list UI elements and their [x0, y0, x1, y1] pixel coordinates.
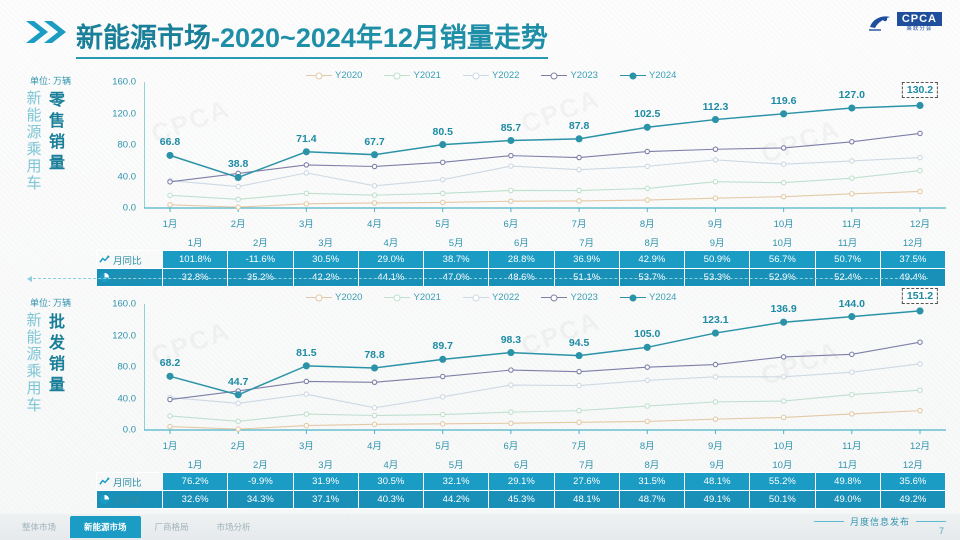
data-point[interactable] [712, 117, 718, 123]
data-point[interactable] [304, 423, 308, 427]
data-point[interactable] [235, 392, 241, 398]
data-point[interactable] [304, 191, 308, 195]
table-column-header: 11月 [815, 234, 880, 251]
data-point[interactable] [781, 162, 785, 166]
slide-footer: 整体市场新能源市场厂商格局市场分析 月度信息发布 7 [0, 514, 960, 540]
data-label: 102.5 [634, 108, 660, 120]
data-point[interactable] [508, 138, 514, 144]
table-cell: 31.9% [293, 473, 358, 491]
x-axis-tick-label: 3月 [299, 438, 314, 452]
side-label-category: 新能源乘用车 [24, 312, 44, 414]
data-point[interactable] [918, 131, 922, 135]
table-row-header: 渗透率 [97, 491, 163, 509]
data-point[interactable] [372, 164, 376, 168]
table-column-header: 2月 [228, 456, 293, 473]
series-line-y2024 [170, 105, 920, 177]
data-point[interactable] [781, 319, 787, 325]
data-point[interactable] [168, 397, 172, 401]
data-point[interactable] [781, 194, 785, 198]
table-cell: 76.2% [163, 473, 228, 491]
data-label: 66.8 [160, 136, 180, 148]
line-chart-icon [99, 476, 110, 487]
table-cell: 40.3% [358, 491, 423, 509]
data-point[interactable] [713, 375, 717, 379]
data-point[interactable] [236, 427, 240, 431]
data-label: 71.4 [296, 133, 316, 145]
data-point[interactable] [645, 186, 649, 190]
footer-tab-active[interactable]: 新能源市场 [70, 516, 141, 538]
table-cell: 56.7% [750, 251, 815, 269]
table-cell: 29.1% [489, 473, 554, 491]
page-number: 7 [939, 526, 944, 536]
footer-tab[interactable]: 市场分析 [203, 516, 265, 538]
data-point[interactable] [781, 355, 785, 359]
data-point[interactable] [372, 422, 376, 426]
data-point[interactable] [509, 199, 513, 203]
data-point[interactable] [372, 152, 378, 158]
data-point[interactable] [303, 149, 309, 155]
table-column-header: 1月 [163, 234, 228, 251]
data-point[interactable] [304, 412, 308, 416]
table-cell: 37.5% [880, 251, 945, 269]
data-point[interactable] [576, 353, 582, 359]
x-axis-tick-label: 9月 [708, 438, 723, 452]
data-point[interactable] [236, 419, 240, 423]
table-cell: 28.8% [489, 251, 554, 269]
table-header-row: 1月2月3月4月5月6月7月8月9月10月11月12月 [97, 234, 946, 251]
data-point[interactable] [168, 414, 172, 418]
logo-text: CPCA [897, 12, 942, 26]
data-point[interactable] [644, 124, 650, 130]
series-line-y2023 [170, 342, 920, 399]
data-point[interactable] [645, 164, 649, 168]
data-point[interactable] [441, 395, 445, 399]
data-label: 144.0 [839, 298, 865, 310]
data-point[interactable] [918, 155, 922, 159]
table-cell: 35.6% [880, 473, 945, 491]
x-axis-tick-label: 8月 [640, 438, 655, 452]
metrics-table: 1月2月3月4月5月6月7月8月9月10月11月12月月同比76.2%-9.9%… [96, 456, 946, 509]
data-point[interactable] [303, 363, 309, 369]
table-column-header: 10月 [750, 456, 815, 473]
data-point[interactable] [236, 401, 240, 405]
series-line-y2023 [170, 133, 920, 181]
table-column-header: 9月 [685, 456, 750, 473]
data-point[interactable] [918, 340, 922, 344]
data-label: 87.8 [569, 120, 589, 132]
data-point[interactable] [441, 422, 445, 426]
table-row-header: 月同比 [97, 251, 163, 269]
data-point[interactable] [713, 158, 717, 162]
data-point[interactable] [850, 159, 854, 163]
table-cell: 45.3% [489, 491, 554, 509]
data-point[interactable] [781, 415, 785, 419]
footer-tab-bar[interactable]: 整体市场新能源市场厂商格局市场分析 [8, 516, 265, 538]
table-row: 月同比76.2%-9.9%31.9%30.5%32.1%29.1%27.6%31… [97, 473, 946, 491]
data-label: 112.3 [703, 101, 729, 113]
unit-label: 单位: 万辆 [30, 74, 71, 87]
table-column-header: 6月 [489, 234, 554, 251]
y-axis-tick: 160.0 [112, 77, 136, 88]
table-cell: 32.6% [163, 491, 228, 509]
data-point[interactable] [441, 177, 445, 181]
data-point[interactable] [304, 392, 308, 396]
panel-side-labels: 新能源乘用车批发销量 [24, 312, 67, 414]
y-axis-tick: 0.0 [123, 425, 136, 436]
data-label: 44.7 [228, 376, 248, 388]
table-column-header: 5月 [424, 456, 489, 473]
data-point[interactable] [917, 308, 923, 314]
data-point[interactable] [645, 378, 649, 382]
data-point[interactable] [440, 142, 446, 148]
data-point[interactable] [304, 163, 308, 167]
table-cell: -9.9% [228, 473, 293, 491]
y-axis-tick: 40.0 [118, 171, 137, 182]
plot-canvas: 66.838.871.467.780.585.787.8102.5112.311… [144, 72, 946, 214]
data-point[interactable] [577, 168, 581, 172]
data-point[interactable] [372, 193, 376, 197]
chart-panel-2: CPCACPCACPCA单位: 万辆新能源乘用车批发销量Y2020Y2021Y2… [0, 288, 960, 510]
line-chart-svg [144, 72, 946, 214]
table-column-header: 12月 [880, 456, 945, 473]
data-point[interactable] [577, 408, 581, 412]
table-header-row: 1月2月3月4月5月6月7月8月9月10月11月12月 [97, 456, 946, 473]
x-axis-tick-label: 6月 [504, 438, 519, 452]
page-title: 新能源市场-2020~2024年12月销量走势 [76, 16, 548, 59]
footer-tab[interactable]: 整体市场 [8, 516, 70, 538]
unit-label: 单位: 万辆 [30, 296, 71, 309]
slide-header: 新能源市场-2020~2024年12月销量走势 CPCA 乘联分会 [0, 0, 960, 62]
line-chart-svg [144, 294, 946, 436]
data-point[interactable] [577, 188, 581, 192]
table-cell: 48.1% [685, 473, 750, 491]
table-corner-cell [97, 234, 163, 251]
x-axis-tick-label: 10月 [774, 438, 794, 452]
page-title-main: 新能源市场 [76, 23, 211, 53]
data-point[interactable] [781, 399, 785, 403]
divider-left [814, 521, 844, 522]
x-axis-tick-label: 11月 [842, 438, 861, 452]
data-label: 89.7 [433, 340, 453, 352]
table-cell: 37.1% [293, 491, 358, 509]
table-row-label: 月同比 [113, 475, 142, 489]
data-point[interactable] [372, 413, 376, 417]
data-label: 68.2 [160, 357, 180, 369]
y-axis-tick: 0.0 [123, 203, 136, 214]
series-line-y2021 [170, 171, 920, 200]
data-point[interactable] [849, 105, 855, 111]
table-row-label: 渗透率 [113, 493, 142, 507]
x-axis-tick-label: 12月 [910, 438, 930, 452]
data-point[interactable] [236, 205, 240, 209]
x-axis-tick-label: 9月 [708, 216, 723, 230]
data-point[interactable] [441, 191, 445, 195]
data-point[interactable] [713, 400, 717, 404]
data-point[interactable] [372, 380, 376, 384]
data-point[interactable] [713, 196, 717, 200]
series-line-y2020 [170, 191, 920, 207]
data-point[interactable] [440, 356, 446, 362]
data-label: 67.7 [364, 136, 384, 148]
x-axis-tick-label: 5月 [435, 438, 450, 452]
x-axis-tick-label: 7月 [572, 216, 587, 230]
page-title-rest: -2020~2024年12月销量走势 [211, 23, 548, 53]
table-column-header: 1月 [163, 456, 228, 473]
data-point[interactable] [781, 181, 785, 185]
data-point[interactable] [168, 424, 172, 428]
data-point[interactable] [577, 199, 581, 203]
data-label: 123.1 [702, 314, 728, 326]
data-point[interactable] [236, 197, 240, 201]
data-point[interactable] [918, 388, 922, 392]
table-column-header: 11月 [815, 456, 880, 473]
data-point[interactable] [509, 383, 513, 387]
data-point[interactable] [509, 164, 513, 168]
data-label: 81.5 [296, 347, 316, 359]
cpca-emblem-icon [867, 13, 893, 33]
x-axis-tick-label: 3月 [299, 216, 314, 230]
data-point[interactable] [509, 410, 513, 414]
table-column-header: 5月 [424, 234, 489, 251]
data-point[interactable] [781, 111, 787, 117]
chart-area: Y2020Y2021Y2022Y2023Y20240.040.080.0120.… [96, 294, 946, 452]
data-point[interactable] [372, 184, 376, 188]
table-column-header: 12月 [880, 234, 945, 251]
table-cell: 49.1% [685, 491, 750, 509]
table-column-header: 8月 [619, 234, 684, 251]
series-line-y2024 [170, 311, 920, 395]
pie-chart-icon [99, 494, 110, 505]
side-label-metric: 批发销量 [47, 312, 67, 414]
x-axis: 1月2月3月4月5月6月7月8月9月10月11月12月 [144, 436, 946, 452]
data-label: 94.5 [569, 337, 589, 349]
x-axis-tick-label: 12月 [910, 216, 930, 230]
y-axis-tick: 120.0 [112, 330, 136, 341]
data-point[interactable] [850, 412, 854, 416]
data-point[interactable] [645, 419, 649, 423]
y-axis-tick: 80.0 [118, 362, 137, 373]
table-cell: 50.7% [815, 251, 880, 269]
data-point[interactable] [441, 160, 445, 164]
line-chart-icon [99, 254, 110, 265]
data-point[interactable] [713, 179, 717, 183]
data-point[interactable] [850, 176, 854, 180]
data-point[interactable] [167, 373, 173, 379]
cpca-logo: CPCA 乘联分会 [867, 12, 942, 33]
data-point[interactable] [850, 352, 854, 356]
data-point[interactable] [441, 200, 445, 204]
data-point[interactable] [918, 168, 922, 172]
y-axis-tick: 120.0 [112, 108, 136, 119]
data-point[interactable] [372, 201, 376, 205]
divider-right [916, 521, 946, 522]
x-axis-tick-label: 1月 [163, 216, 178, 230]
data-point[interactable] [781, 375, 785, 379]
table-cell: 49.2% [880, 491, 945, 509]
table-cell: 49.0% [815, 491, 880, 509]
table-cell: 50.9% [685, 251, 750, 269]
data-label: 98.3 [501, 334, 521, 346]
x-axis-tick-label: 8月 [640, 216, 655, 230]
data-point[interactable] [235, 174, 241, 180]
footer-brand: 月度信息发布 [814, 515, 946, 528]
data-label: 130.2 [902, 82, 938, 98]
table-row: 月同比101.8%-11.6%30.5%29.0%38.7%28.8%36.9%… [97, 251, 946, 269]
y-axis: 0.040.080.0120.0160.0 [96, 72, 142, 214]
table-corner-cell [97, 456, 163, 473]
table-column-header: 4月 [358, 456, 423, 473]
table-row-header: 月同比 [97, 473, 163, 491]
table-column-header: 6月 [489, 456, 554, 473]
table-cell: 34.3% [228, 491, 293, 509]
table-row-label: 月同比 [113, 253, 142, 267]
table-cell: 55.2% [750, 473, 815, 491]
data-point[interactable] [372, 365, 378, 371]
table-cell: 48.1% [554, 491, 619, 509]
panel-side-labels: 新能源乘用车零售销量 [24, 90, 67, 192]
data-point[interactable] [918, 189, 922, 193]
data-point[interactable] [850, 370, 854, 374]
x-axis-tick-label: 6月 [504, 216, 519, 230]
data-point[interactable] [236, 184, 240, 188]
table-cell: 44.2% [424, 491, 489, 509]
logo-subtext: 乘联分会 [897, 26, 942, 33]
data-point[interactable] [167, 152, 173, 158]
table-cell: 38.7% [424, 251, 489, 269]
x-axis-tick-label: 11月 [842, 216, 861, 230]
data-point[interactable] [713, 147, 717, 151]
data-point[interactable] [850, 140, 854, 144]
table-column-header: 10月 [750, 234, 815, 251]
table-cell: 50.1% [750, 491, 815, 509]
x-axis-tick-label: 5月 [435, 216, 450, 230]
data-point[interactable] [850, 192, 854, 196]
plot-canvas: 68.244.781.578.889.798.394.5105.0123.113… [144, 294, 946, 436]
table-cell: 36.9% [554, 251, 619, 269]
x-axis-tick-label: 1月 [163, 438, 178, 452]
table-cell: 30.5% [358, 473, 423, 491]
table-column-header: 4月 [358, 234, 423, 251]
table-column-header: 3月 [293, 234, 358, 251]
table-cell: 42.9% [619, 251, 684, 269]
y-axis-tick: 40.0 [118, 393, 137, 404]
x-axis-tick-label: 2月 [231, 216, 246, 230]
footer-brand-text: 月度信息发布 [850, 515, 910, 528]
section-divider-arrow [28, 278, 928, 280]
table-column-header: 7月 [554, 234, 619, 251]
data-point[interactable] [713, 417, 717, 421]
data-point[interactable] [509, 368, 513, 372]
data-point[interactable] [508, 350, 514, 356]
y-axis-tick: 80.0 [118, 140, 137, 151]
chart-panel-1: CPCACPCACPCA单位: 万辆新能源乘用车零售销量Y2020Y2021Y2… [0, 66, 960, 288]
data-label: 151.2 [902, 288, 938, 304]
table-column-header: 8月 [619, 456, 684, 473]
table-column-header: 9月 [685, 234, 750, 251]
data-point[interactable] [917, 102, 923, 108]
table-cell: 48.7% [619, 491, 684, 509]
table-row: 渗透率32.6%34.3%37.1%40.3%44.2%45.3%48.1%48… [97, 491, 946, 509]
data-point[interactable] [168, 203, 172, 207]
data-point[interactable] [509, 153, 513, 157]
data-point[interactable] [918, 408, 922, 412]
data-point[interactable] [645, 198, 649, 202]
data-point[interactable] [304, 379, 308, 383]
table-cell: 31.5% [619, 473, 684, 491]
data-label: 85.7 [501, 122, 521, 134]
side-label-metric: 零售销量 [47, 90, 67, 192]
data-point[interactable] [168, 193, 172, 197]
data-label: 127.0 [839, 89, 865, 101]
series-line-y2020 [170, 411, 920, 430]
data-point[interactable] [168, 180, 172, 184]
data-point[interactable] [304, 202, 308, 206]
x-axis-tick-label: 4月 [367, 438, 382, 452]
data-point[interactable] [645, 149, 649, 153]
data-label: 119.6 [771, 95, 797, 107]
data-point[interactable] [850, 392, 854, 396]
table-cell: 29.0% [358, 251, 423, 269]
table-cell: 30.5% [293, 251, 358, 269]
data-point[interactable] [918, 362, 922, 366]
slide-page: 新能源市场-2020~2024年12月销量走势 CPCA 乘联分会 CPCACP… [0, 0, 960, 540]
chart-area: Y2020Y2021Y2022Y2023Y20240.040.080.0120.… [96, 72, 946, 230]
y-axis-tick: 160.0 [112, 299, 136, 310]
y-axis: 0.040.080.0120.0160.0 [96, 294, 142, 436]
data-point[interactable] [712, 330, 718, 336]
data-label: 38.8 [228, 158, 248, 170]
data-point[interactable] [644, 344, 650, 350]
data-point[interactable] [849, 314, 855, 320]
data-point[interactable] [509, 421, 513, 425]
x-axis: 1月2月3月4月5月6月7月8月9月10月11月12月 [144, 214, 946, 230]
data-point[interactable] [713, 362, 717, 366]
side-label-category: 新能源乘用车 [24, 90, 44, 192]
table-cell: 49.8% [815, 473, 880, 491]
table-cell: 27.6% [554, 473, 619, 491]
table-cell: 32.1% [424, 473, 489, 491]
data-point[interactable] [372, 406, 376, 410]
data-point[interactable] [577, 420, 581, 424]
data-label: 105.0 [634, 328, 660, 340]
x-axis-tick-label: 10月 [774, 216, 794, 230]
data-point[interactable] [577, 369, 581, 373]
footer-tab[interactable]: 厂商格局 [141, 516, 203, 538]
data-point[interactable] [577, 383, 581, 387]
table-cell: -11.6% [228, 251, 293, 269]
table-column-header: 3月 [293, 456, 358, 473]
data-label: 78.8 [364, 349, 384, 361]
data-point[interactable] [304, 171, 308, 175]
data-point[interactable] [781, 146, 785, 150]
data-point[interactable] [576, 136, 582, 142]
x-axis-tick-label: 4月 [367, 216, 382, 230]
data-point[interactable] [645, 404, 649, 408]
data-label: 80.5 [433, 126, 453, 138]
double-chevron-right-icon [24, 18, 72, 46]
x-axis-tick-label: 7月 [572, 438, 587, 452]
data-point[interactable] [509, 188, 513, 192]
data-point[interactable] [441, 374, 445, 378]
series-line-y2022 [170, 158, 920, 187]
data-label: 136.9 [770, 303, 796, 315]
table-column-header: 7月 [554, 456, 619, 473]
x-axis-tick-label: 2月 [231, 438, 246, 452]
table-column-header: 2月 [228, 234, 293, 251]
data-point[interactable] [645, 365, 649, 369]
data-point[interactable] [577, 155, 581, 159]
data-point[interactable] [441, 412, 445, 416]
